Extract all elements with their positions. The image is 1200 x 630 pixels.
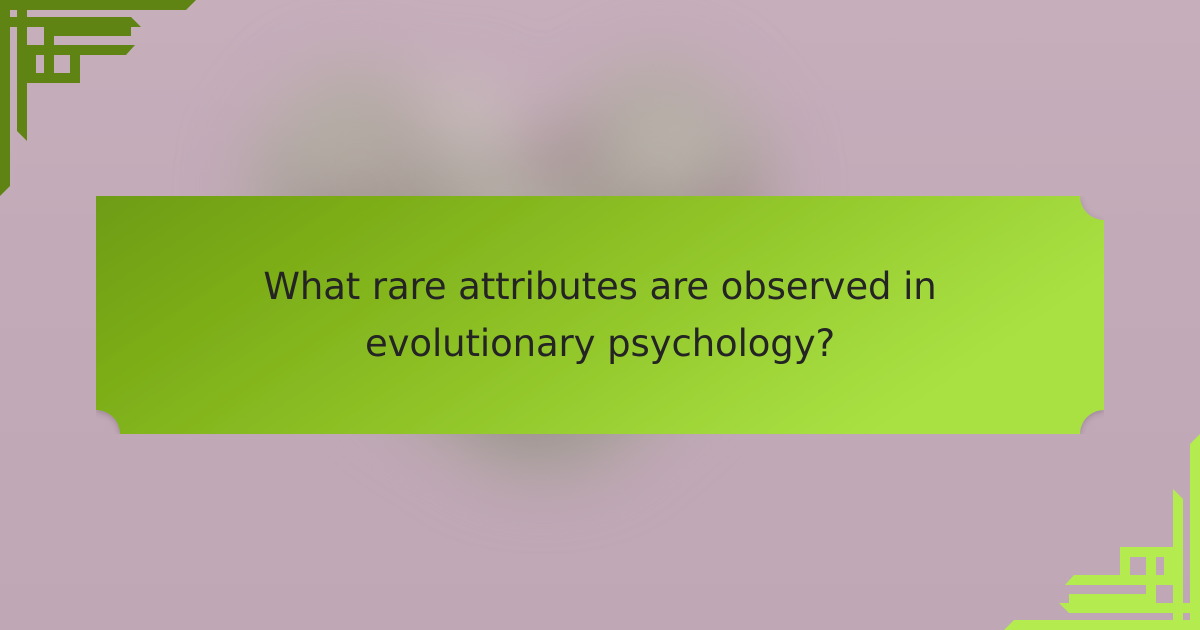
poster-canvas: What rare attributes are observed in evo…: [0, 0, 1200, 630]
quote-line-1: What rare attributes are observed in: [263, 258, 936, 315]
corner-ornament-bottom-right: [1000, 430, 1200, 630]
quote-line-2: evolutionary psychology?: [365, 315, 835, 372]
quote-card-text: What rare attributes are observed in evo…: [96, 196, 1104, 434]
corner-ornament-top-left: [0, 0, 200, 200]
quote-card: What rare attributes are observed in evo…: [96, 196, 1104, 434]
